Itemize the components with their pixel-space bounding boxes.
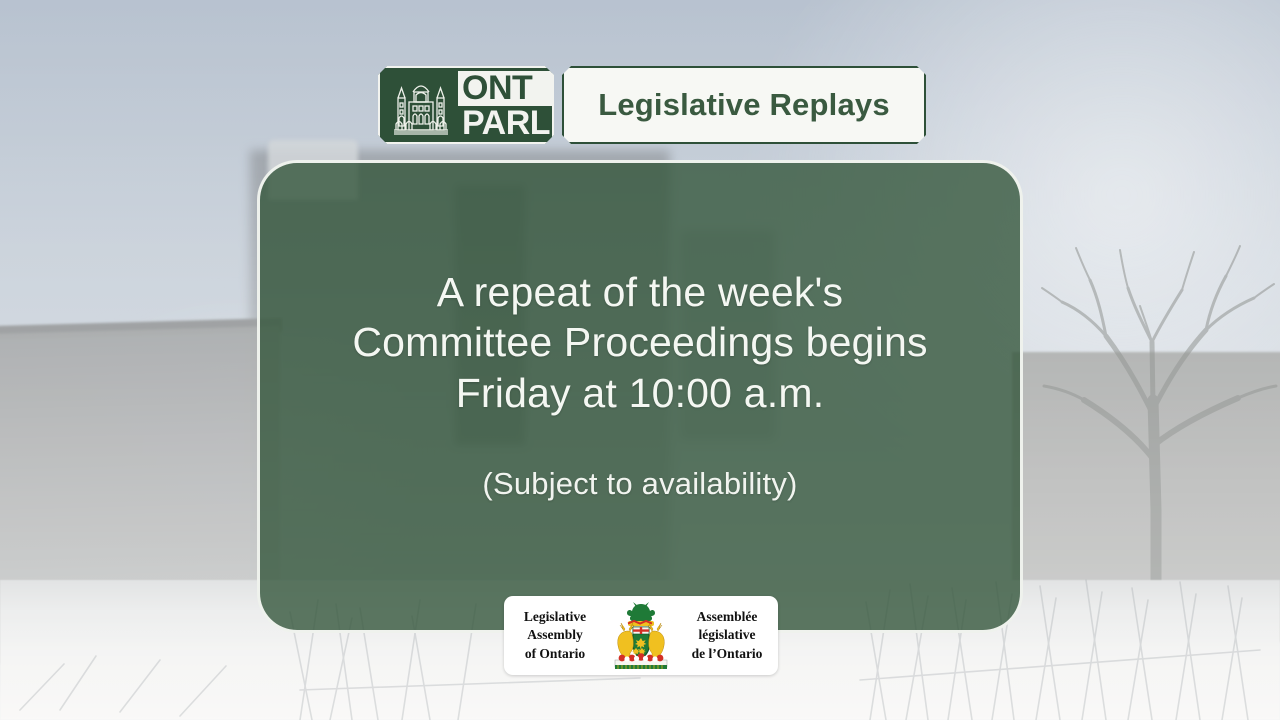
badge-en-line-2: Assembly	[508, 626, 602, 644]
parliament-building-icon	[388, 72, 454, 138]
availability-note: (Subject to availability)	[260, 466, 1020, 502]
badge-fr-line-3: de l’Ontario	[680, 645, 774, 663]
badge-fr-line-2: législative	[680, 626, 774, 644]
badge-en-line-1: Legislative	[508, 608, 602, 626]
logo-line-parl: PARL	[458, 106, 554, 139]
announcement-line-1: A repeat of the week's	[260, 267, 1020, 317]
program-title-plate: Legislative Replays	[562, 66, 926, 144]
announcement-card-content: A repeat of the week's Committee Proceed…	[260, 267, 1020, 525]
badge-text-french: Assemblée législative de l’Ontario	[680, 608, 774, 662]
header-bar: ONT PARL Legislative Replays	[378, 66, 926, 144]
logo-line-ont: ONT	[458, 71, 554, 106]
badge-en-line-3: of Ontario	[508, 645, 602, 663]
ontparl-wordmark: ONT PARL	[458, 71, 554, 140]
announcement-line-2: Committee Proceedings begins	[260, 317, 1020, 367]
program-title-text: Legislative Replays	[598, 87, 890, 123]
announcement-card: A repeat of the week's Committee Proceed…	[257, 160, 1023, 633]
badge-text-english: Legislative Assembly of Ontario	[508, 608, 602, 662]
legislative-assembly-badge: Legislative Assembly of Ontario	[504, 596, 778, 675]
broadcast-screen: ONT PARL Legislative Replays A repeat of…	[0, 0, 1280, 720]
ontparl-channel-logo: ONT PARL	[378, 66, 554, 144]
ontario-coat-of-arms-icon	[608, 601, 674, 671]
announcement-message: A repeat of the week's Committee Proceed…	[260, 267, 1020, 417]
announcement-line-3: Friday at 10:00 a.m.	[260, 368, 1020, 418]
badge-fr-line-1: Assemblée	[680, 608, 774, 626]
